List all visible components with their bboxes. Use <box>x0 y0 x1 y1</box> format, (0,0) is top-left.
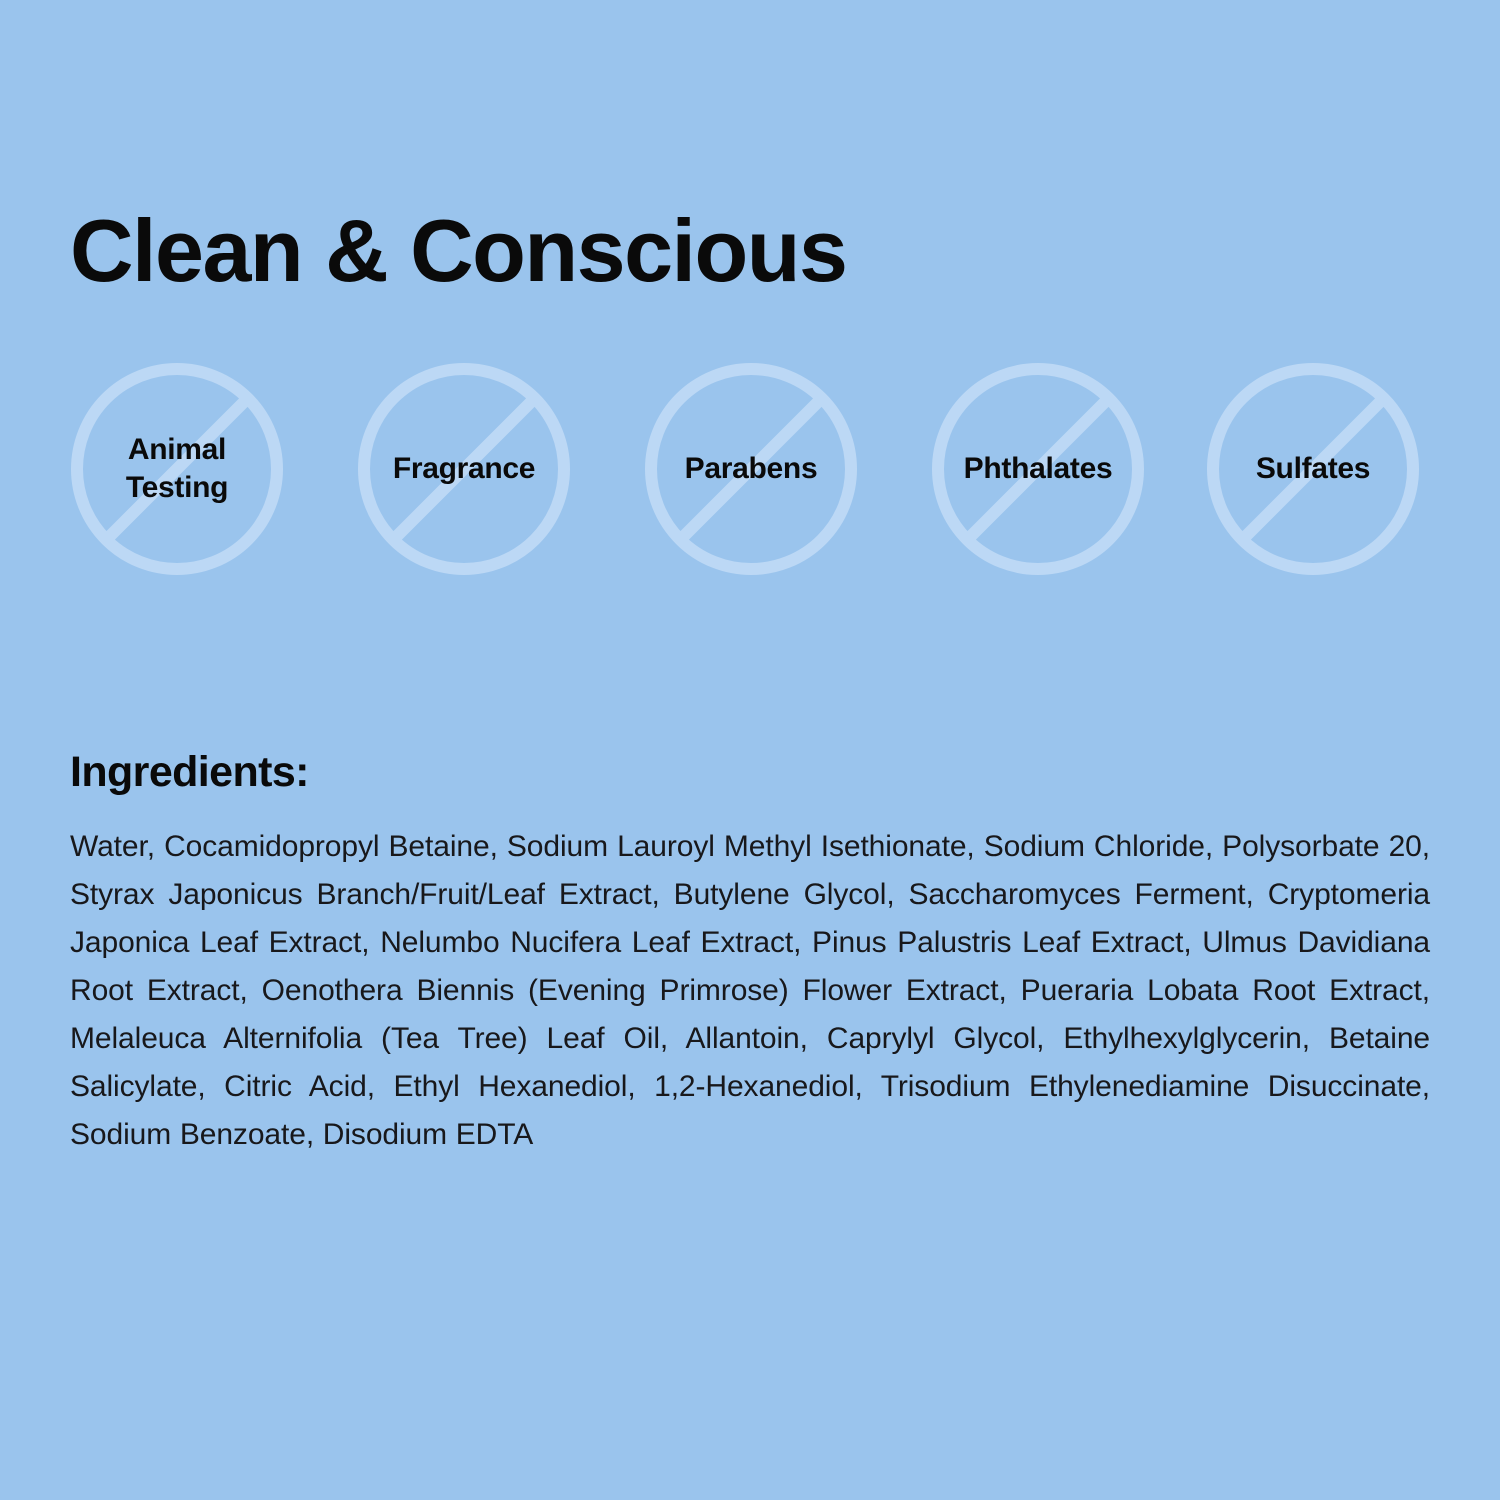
badge-phthalates[interactable]: Phthalates <box>931 362 1145 576</box>
badge-parabens[interactable]: Parabens <box>644 362 858 576</box>
badge-label-line1: Parabens <box>685 450 818 488</box>
badge-sulfates[interactable]: Sulfates <box>1206 362 1420 576</box>
badge-animal-testing[interactable]: Animal Testing <box>70 362 284 576</box>
badge-label: Animal Testing <box>70 362 284 576</box>
badge-label-line1: Fragrance <box>393 450 535 488</box>
badge-label: Sulfates <box>1206 362 1420 576</box>
badge-label: Parabens <box>644 362 858 576</box>
badge-label-line1: Phthalates <box>964 450 1113 488</box>
product-info-panel: Clean & Conscious Animal Testing <box>0 0 1500 1500</box>
free-from-badge-row: Animal Testing Fragrance <box>70 362 1430 578</box>
badge-label-line1: Sulfates <box>1256 450 1370 488</box>
badge-label-line1: Animal <box>126 431 228 469</box>
page-title: Clean & Conscious <box>70 207 846 295</box>
ingredients-heading: Ingredients: <box>70 751 309 794</box>
ingredients-list-text: Water, Cocamidopropyl Betaine, Sodium La… <box>70 823 1430 1159</box>
badge-label-line2: Testing <box>126 469 228 507</box>
badge-label: Phthalates <box>931 362 1145 576</box>
badge-label: Fragrance <box>357 362 571 576</box>
badge-fragrance[interactable]: Fragrance <box>357 362 571 576</box>
